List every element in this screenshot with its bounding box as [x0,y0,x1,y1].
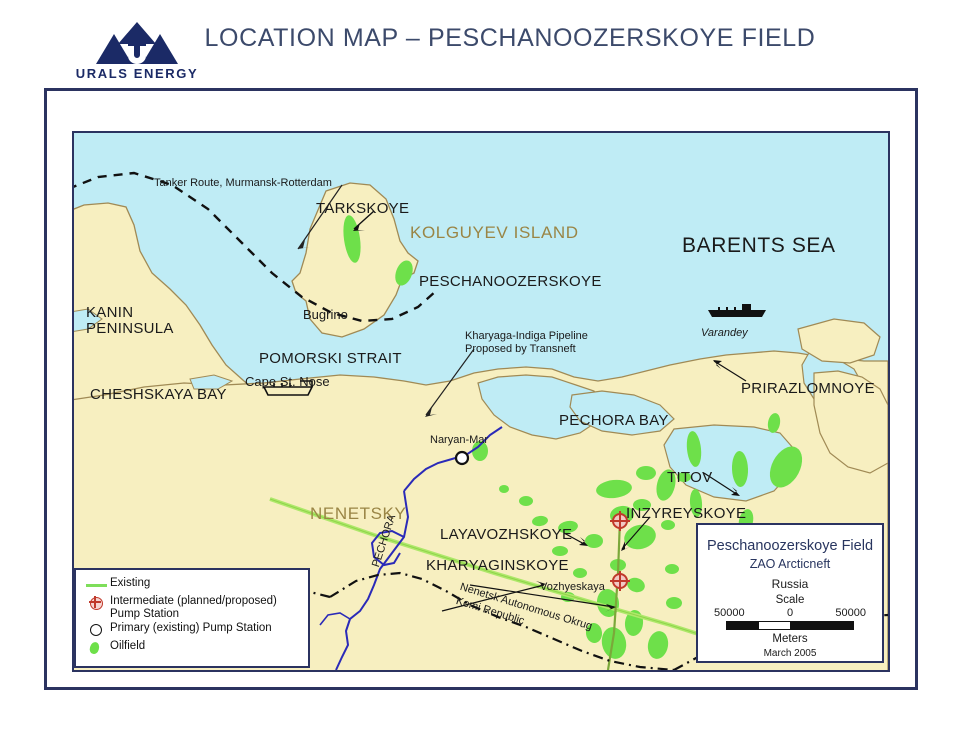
scale-block-units: Meters [698,633,882,645]
scale-block-word: Scale [698,594,882,606]
label-kharyaginskoye: KHARYAGINSKOYE [426,557,569,574]
legend-label-existing: Existing [110,577,150,590]
label-peschanoozerskoye: PESCHANOOZERSKOYE [419,273,602,290]
legend-label-primary: Primary (existing) Pump Station [110,622,272,635]
label-vozhyeskaya: Vozhyeskaya [540,581,605,593]
scale-bar-ticks: 50000 0 50000 [698,607,882,619]
scale-bar [726,621,854,630]
scale-tick-right: 50000 [835,607,866,619]
label-barents-sea: BARENTS SEA [682,234,836,258]
page-header: URALS ENERGY LOCATION MAP – PESCHANOOZER… [0,0,960,92]
mountain-arrow-logo-icon [94,22,180,64]
label-prirazlomnoye: PRIRAZLOMNOYE [741,380,875,397]
legend-item-primary-pump: Primary (existing) Pump Station [84,622,300,638]
legend-label-intermediate-line1: Intermediate (planned/proposed) [110,595,277,608]
scale-bar-segment [790,622,822,629]
scale-bar-segment [727,622,759,629]
label-naryan-mar: Naryan-Mar [430,434,488,446]
brand-name: URALS ENERGY [72,66,202,81]
label-cheshskaya-bay: CHESHSKAYA BAY [90,386,227,403]
label-titov: TITOV [667,469,712,486]
existing-line-icon [84,577,110,593]
scale-block-country: Russia [698,577,882,591]
legend-label-oilfield: Oilfield [110,640,145,653]
legend-item-intermediate-pump: Intermediate (planned/proposed) Pump Sta… [84,595,300,620]
scale-block-title: Peschanoozerskoye Field [698,538,882,554]
legend-label-intermediate-line2: Pump Station [110,608,277,621]
scale-bar-segment [759,622,791,629]
label-kharyaga-pipeline-line1: Kharyaga-Indiga Pipeline [465,330,588,342]
crosshair-circle-icon [84,595,110,611]
pump-station-primary [456,452,468,464]
legend-item-existing: Existing [84,577,300,593]
label-inzyreyskoye: INZYREYSKOYE [626,505,746,522]
label-kanin-peninsula-line2: PENINSULA [86,320,174,337]
map-scale-block: Peschanoozerskoye Field ZAO Arcticneft R… [696,523,884,663]
scale-bar-segment [822,622,854,629]
label-kolguyev-island: KOLGUYEV ISLAND [410,223,579,243]
label-tarkskoye: TARKSKOYE [316,200,409,217]
map-legend: Existing Intermediate (planned/proposed)… [74,568,310,668]
scale-tick-center: 0 [787,607,793,619]
oilfield-blob-icon [84,640,110,656]
scale-block-date: March 2005 [698,648,882,659]
label-kharyaga-pipeline-line2: Proposed by Transneft [465,343,576,355]
legend-item-oilfield: Oilfield [84,640,300,656]
label-pechora-bay: PECHORA BAY [559,412,669,429]
label-pomorski-strait: POMORSKI STRAIT [259,350,402,367]
label-kanin-peninsula-line1: KANIN [86,304,133,321]
label-varandey: Varandey [701,327,748,339]
open-circle-icon [84,622,110,638]
scale-block-operator: ZAO Arcticneft [698,557,882,571]
label-tanker-route: Tanker Route, Murmansk-Rotterdam [154,177,332,189]
scale-tick-left: 50000 [714,607,745,619]
label-cape-st-nose: Cape St. Nose [245,374,330,389]
label-bugrino: Bugrino [303,307,348,322]
page-title: LOCATION MAP – PESCHANOOZERSKOYE FIELD [180,24,840,53]
label-layavozhskoye: LAYAVOZHSKOYE [440,526,572,543]
